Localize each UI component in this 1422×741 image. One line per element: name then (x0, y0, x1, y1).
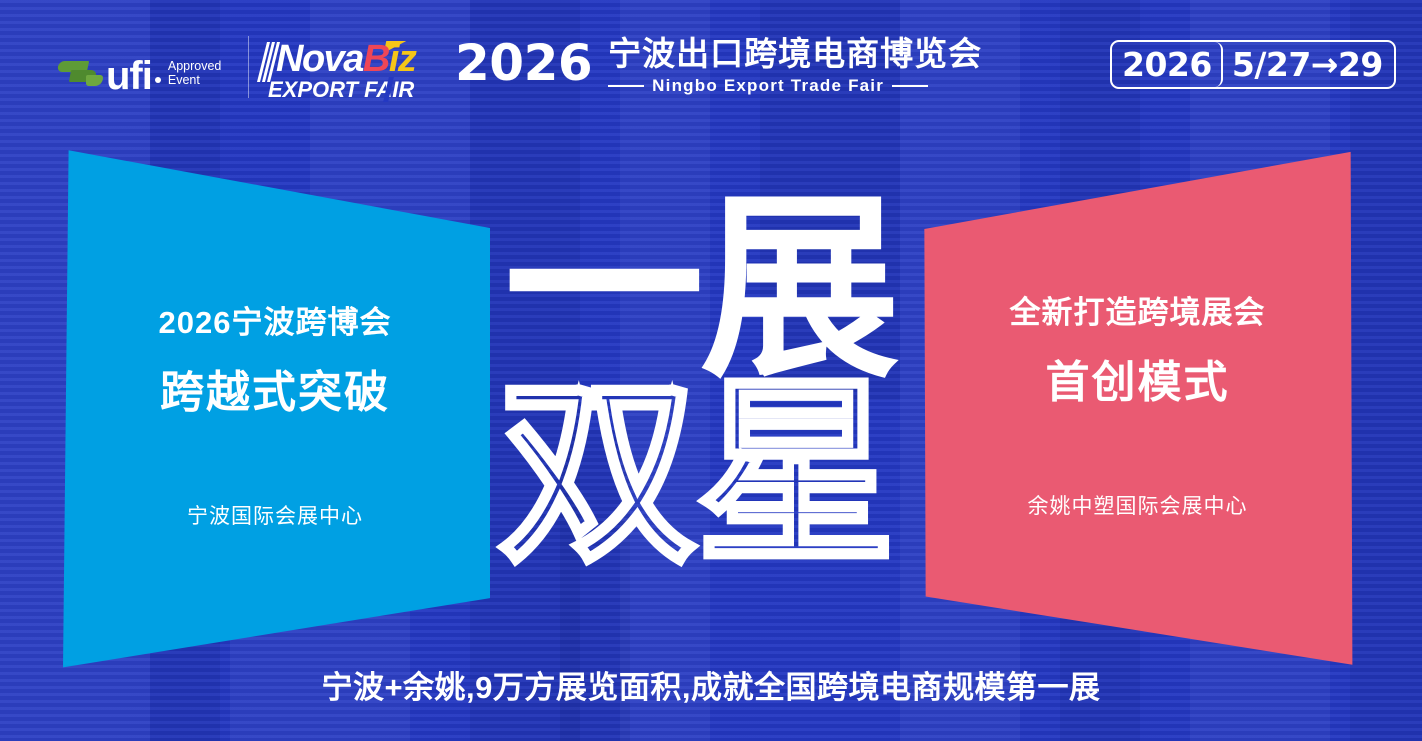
ufi-approved-event-logo: ufi Approved Event (58, 46, 221, 90)
title-rule-left (608, 85, 644, 87)
hero-slogan-bottom: 双星 (498, 375, 894, 575)
right-panel-venue: 余姚中塑国际会展中心 (1028, 490, 1248, 520)
banner-header: ufi Approved Event NovaBiz EXPORT FAIR 2… (0, 0, 1422, 134)
fair-title-year: 2026 (455, 36, 592, 90)
biz-iz-letters: iz (389, 38, 416, 80)
date-badge-year: 2026 (1112, 42, 1223, 87)
left-venue-panel: 2026宁波跨博会 跨越式突破 宁波国际会展中心 (60, 145, 490, 670)
banner-tagline: 宁波+余姚,9万方展览面积,成就全国跨境电商规模第一展 (0, 662, 1422, 707)
left-panel-headline: 2026宁波跨博会 (159, 297, 392, 342)
ufi-approved-line2: Event (168, 73, 200, 87)
ufi-approved-line1: Approved (168, 59, 222, 73)
hero-slogan: 一展 双星 (480, 190, 940, 610)
fair-title-english-row: Ningbo Export Trade Fair (608, 76, 982, 96)
event-date-badge: 2026 5/27→29 (1110, 40, 1396, 89)
date-badge-range: 5/27→29 (1223, 42, 1394, 87)
hero-slogan-top: 一展 (504, 190, 896, 390)
left-panel-venue: 宁波国际会展中心 (187, 500, 363, 530)
right-venue-panel: 全新打造跨境展会 首创模式 余姚中塑国际会展中心 (920, 145, 1355, 670)
ufi-approved-event-text: Approved Event (168, 59, 222, 87)
novabiz-export-fair-logo: NovaBiz EXPORT FAIR (262, 38, 427, 100)
right-panel-headline: 全新打造跨境展会 (1010, 287, 1266, 332)
right-panel-subheadline: 首创模式 (1046, 346, 1230, 410)
ufi-wordmark: ufi (106, 59, 152, 93)
biz-b-letter: B (363, 38, 389, 80)
ufi-dot-icon (155, 77, 161, 83)
event-banner: ufi Approved Event NovaBiz EXPORT FAIR 2… (0, 0, 1422, 741)
title-rule-right (892, 85, 928, 87)
left-panel-subheadline: 跨越式突破 (160, 356, 390, 420)
header-divider (248, 36, 249, 98)
ufi-leaf-icon (58, 59, 104, 89)
fair-title-chinese: 宁波出口跨境电商博览会 (608, 36, 982, 72)
fair-title-english: Ningbo Export Trade Fair (652, 76, 884, 96)
fair-title-block: 2026 宁波出口跨境电商博览会 Ningbo Export Trade Fai… (455, 36, 982, 96)
novabiz-wordmark: NovaBiz (276, 38, 415, 80)
nova-text: Nova (276, 38, 363, 80)
